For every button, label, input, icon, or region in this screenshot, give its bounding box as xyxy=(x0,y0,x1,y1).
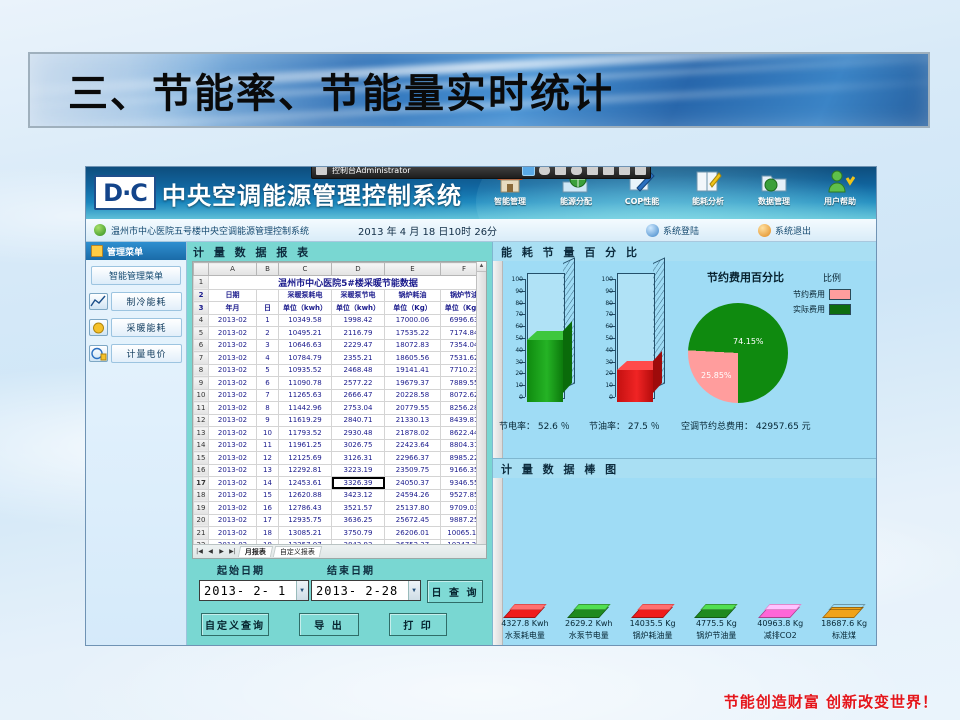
cell-day[interactable]: 12 xyxy=(257,452,279,465)
sidebar-item-heating[interactable]: 采暖能耗 xyxy=(89,318,182,337)
end-date-value: 2013- 2-28 xyxy=(316,584,398,598)
header-cell: 采暖泵耗电 xyxy=(279,289,332,302)
toolbar-label: 智能管理 xyxy=(494,196,526,207)
first-sheet-icon[interactable]: |◀ xyxy=(195,548,204,555)
savings-pie-chart xyxy=(688,303,788,403)
table-row[interactable]: 202013-021712935.753636.2525672.459887.2… xyxy=(194,514,488,527)
gauge-tick-label: 80 xyxy=(605,300,613,307)
start-date-label: 起始日期 xyxy=(217,562,265,577)
report-table: A B C D E F 1 温州市中心医院5#楼采暖节能数据 2 日期 xyxy=(193,262,487,552)
price-icon xyxy=(89,345,108,362)
cell-pump-power[interactable]: 12292.81 xyxy=(279,464,332,477)
cell-ym[interactable]: 2013-02 xyxy=(209,339,257,352)
bar-category: 锅炉节油量 xyxy=(696,630,736,641)
metering-bars-canvas: 4327.8 Kwh 水泵耗电量 2629.2 Kwh 水泵节电量 xyxy=(493,478,876,645)
sheet-tab-custom[interactable]: 自定义报表 xyxy=(273,546,322,557)
legend-item-actual: 实际费用 xyxy=(793,304,851,315)
sheet-tab-label: 月报表 xyxy=(245,547,266,557)
speaker-icon[interactable] xyxy=(635,167,646,175)
slide-slogan: 节能创造财富 创新改变世界！ xyxy=(724,691,938,712)
folder-globe-icon xyxy=(759,168,789,195)
cell-day[interactable]: 14 xyxy=(257,477,279,490)
gauge-tick-label: 70 xyxy=(515,311,523,318)
app-title: 中央空调能源管理控制系统 xyxy=(162,176,462,211)
gauge-tick-label: 40 xyxy=(605,347,613,354)
bar-shape xyxy=(763,604,797,617)
table-row[interactable]: 142013-021111961.253026.7522423.648804.3… xyxy=(194,439,488,452)
bar-category: 水泵节电量 xyxy=(569,630,609,641)
row-number: 19 xyxy=(194,502,209,515)
keyboard-icon[interactable] xyxy=(619,167,630,175)
cell-pump-power[interactable]: 13085.21 xyxy=(279,527,332,540)
gauge-bar-oil xyxy=(617,370,653,402)
cell-boiler-oil[interactable]: 26206.01 xyxy=(385,527,441,540)
toolbar-item-nenghao[interactable]: 能耗分析 xyxy=(676,168,740,207)
dc-logo-text: D·C xyxy=(103,179,147,207)
table-row[interactable]: 82013-02510935.522468.4819141.417710.23 xyxy=(194,364,488,377)
gauge-tick-label: 10 xyxy=(605,382,613,389)
folder-icon[interactable] xyxy=(555,167,566,175)
gauge-power-saving: 100 90 80 70 60 50 40 30 20 10 0 xyxy=(507,273,581,408)
gauge-tick-label: 10 xyxy=(515,382,523,389)
cell-ym[interactable]: 2013-02 xyxy=(209,452,257,465)
gauge-tick-label: 50 xyxy=(605,335,613,342)
bar-item: 4775.5 Kg 锅炉节油量 xyxy=(684,604,748,641)
sheet-tab-monthly[interactable]: 月报表 xyxy=(238,546,273,557)
column-letter-row: A B C D E F xyxy=(194,263,488,276)
row-number: 8 xyxy=(194,364,209,377)
cell-ym[interactable]: 2013-02 xyxy=(209,314,257,327)
table-row[interactable]: 212013-021813085.213750.7926206.0110065.… xyxy=(194,527,488,540)
bar-shape xyxy=(827,604,861,617)
legend-swatch-saved xyxy=(829,289,851,300)
cell-day[interactable]: 13 xyxy=(257,464,279,477)
cell-ym[interactable]: 2013-02 xyxy=(209,402,257,415)
cell-pump-power[interactable]: 11961.25 xyxy=(279,439,332,452)
end-date-input[interactable]: 2013- 2-28 ▼ xyxy=(311,580,421,601)
gauge-tick-label: 0 xyxy=(609,394,613,401)
pie-chart-title: 节约费用百分比 xyxy=(707,269,784,285)
cell-day[interactable]: 10 xyxy=(257,427,279,440)
cell-pump-saved[interactable]: 2666.47 xyxy=(332,389,385,402)
gauge-tick-label: 50 xyxy=(515,335,523,342)
total-savings-annotation: 空调节约总费用： 42957.65 元 xyxy=(681,419,811,432)
bar-item: 4327.8 Kwh 水泵耗电量 xyxy=(493,604,557,641)
cell-ym[interactable]: 2013-02 xyxy=(209,427,257,440)
day-query-button[interactable]: 日 查 询 xyxy=(427,580,483,603)
sidebar-item-label: 制冷能耗 xyxy=(111,292,182,311)
cell-pump-power[interactable]: 12786.43 xyxy=(279,502,332,515)
slide-title-banner: 三、节能率、节能量实时统计 xyxy=(28,52,930,128)
status-bar: 温州市中心医院五号楼中央空调能源管理控制系统 2013 年 4 月 18 日10… xyxy=(86,219,876,242)
cell-pump-saved[interactable]: 3521.57 xyxy=(332,502,385,515)
cell-day[interactable]: 15 xyxy=(257,489,279,502)
cell-ym[interactable]: 2013-02 xyxy=(209,502,257,515)
cell-boiler-oil[interactable]: 23509.75 xyxy=(385,464,441,477)
energy-percent-panel: 能 耗 节 量 百 分 比 100 90 80 70 60 50 40 xyxy=(493,242,876,459)
bar-shape xyxy=(699,604,733,617)
cell-boiler-oil[interactable]: 19679.37 xyxy=(385,377,441,390)
gauge-tick-label: 60 xyxy=(605,323,613,330)
os-titlebar-label: 控制台Administrator xyxy=(332,167,411,176)
cell-pump-power[interactable]: 11793.52 xyxy=(279,427,332,440)
row-number: 11 xyxy=(194,402,209,415)
bar-value: 40963.8 Kg xyxy=(757,619,803,628)
cell-day[interactable]: 1 xyxy=(257,314,279,327)
bar-value: 4775.5 Kg xyxy=(696,619,737,628)
table-row[interactable]: 152013-021212125.693126.3122966.378985.2… xyxy=(194,452,488,465)
gauge-tick-label: 30 xyxy=(605,359,613,366)
table-row[interactable]: 102013-02711265.632666.4720228.588072.62 xyxy=(194,389,488,402)
row-number: 15 xyxy=(194,452,209,465)
bar-item: 18687.6 Kg 标准煤 xyxy=(812,604,876,641)
last-sheet-icon[interactable]: ▶| xyxy=(228,548,237,555)
cell-pump-power[interactable]: 12453.61 xyxy=(279,477,332,490)
sheet-tab-label: 自定义报表 xyxy=(280,547,315,557)
monitor-icon[interactable] xyxy=(523,167,534,175)
cursor-icon[interactable] xyxy=(571,167,582,175)
page-title: 三、节能率、节能量实时统计 xyxy=(68,61,614,119)
header-row-1: 2 日期 采暖泵耗电 采暖泵节电 锅炉耗油 锅炉节油 xyxy=(194,289,488,302)
sheet-vertical-scrollbar[interactable]: ▲ ▼ xyxy=(476,262,486,558)
header-cell: 单位（Kg） xyxy=(385,302,441,315)
system-status-icon xyxy=(94,224,106,236)
gauge-tick-label: 0 xyxy=(519,394,523,401)
row-number: 6 xyxy=(194,339,209,352)
application-window: D·C 中央空调能源管理控制系统 智能管理 能源分配 COP性能 xyxy=(85,166,877,646)
gauge-tick-label: 20 xyxy=(515,370,523,377)
cell-pump-power[interactable]: 10935.52 xyxy=(279,364,332,377)
table-row[interactable]: 182013-021512620.883423.1224594.269527.8… xyxy=(194,489,488,502)
current-datetime: 2013 年 4 月 18 日10时 26分 xyxy=(358,223,497,238)
sidebar-header-label: 管理菜单 xyxy=(107,245,143,258)
cell-pump-saved[interactable]: 3223.19 xyxy=(332,464,385,477)
cell-day[interactable]: 6 xyxy=(257,377,279,390)
system-name-label: 温州市中心医院五号楼中央空调能源管理控制系统 xyxy=(111,224,309,237)
row-number: 3 xyxy=(194,302,209,315)
table-row[interactable]: 162013-021312292.813223.1923509.759166.3… xyxy=(194,464,488,477)
cell-ym[interactable]: 2013-02 xyxy=(209,364,257,377)
legend-item-saved: 节约费用 xyxy=(793,289,851,300)
chevron-down-icon[interactable]: ▼ xyxy=(296,581,308,600)
bar-value: 4327.8 Kwh xyxy=(501,619,548,628)
selected-cell[interactable]: 3326.39 xyxy=(332,477,385,490)
bar-category: 锅炉耗油量 xyxy=(633,630,673,641)
cell-pump-saved[interactable]: 1998.42 xyxy=(332,314,385,327)
cell-ym[interactable]: 2013-02 xyxy=(209,489,257,502)
report-panel: 计 量 数 据 报 表 A B C D E F 1 温州市中 xyxy=(187,242,493,646)
cell-boiler-oil[interactable]: 20779.55 xyxy=(385,402,441,415)
cell-day[interactable]: 11 xyxy=(257,439,279,452)
cell-day[interactable]: 5 xyxy=(257,364,279,377)
gauge-tick-label: 20 xyxy=(605,370,613,377)
row-number: 12 xyxy=(194,414,209,427)
cell-boiler-oil[interactable]: 25137.80 xyxy=(385,502,441,515)
header-cell: 日 xyxy=(257,302,279,315)
toolbar-label: 能源分配 xyxy=(560,196,592,207)
cell-pump-power[interactable]: 11090.78 xyxy=(279,377,332,390)
row-number: 2 xyxy=(194,289,209,302)
gauge-tick-label: 60 xyxy=(515,323,523,330)
cell-day[interactable]: 18 xyxy=(257,527,279,540)
cell-pump-saved[interactable]: 3423.12 xyxy=(332,489,385,502)
query-controls: 起始日期 结束日期 2013- 2- 1 ▼ 2013- 2-28 ▼ 日 查 … xyxy=(187,558,492,646)
legend-label: 实际费用 xyxy=(793,304,825,315)
cell-ym[interactable]: 2013-02 xyxy=(209,352,257,365)
cell-pump-saved[interactable]: 2355.21 xyxy=(332,352,385,365)
column-letter[interactable]: D xyxy=(332,263,385,276)
print-button[interactable]: 打 印 xyxy=(389,613,447,636)
cell-boiler-oil[interactable]: 20228.58 xyxy=(385,389,441,402)
cell-pump-saved[interactable]: 2930.48 xyxy=(332,427,385,440)
metering-bar-list: 4327.8 Kwh 水泵耗电量 2629.2 Kwh 水泵节电量 xyxy=(493,604,876,641)
cell-day[interactable]: 17 xyxy=(257,514,279,527)
dc-logo-icon: D·C xyxy=(94,175,156,210)
row-number: 13 xyxy=(194,427,209,440)
cell-day[interactable]: 9 xyxy=(257,414,279,427)
sidebar-header: 管理菜单 xyxy=(86,242,186,260)
system-login-label: 系统登陆 xyxy=(663,224,699,237)
table-row[interactable]: 112013-02811442.962753.0420779.558256.28 xyxy=(194,402,488,415)
cell-pump-power[interactable]: 10495.21 xyxy=(279,327,332,340)
hand-icon[interactable] xyxy=(603,167,614,175)
login-icon xyxy=(646,224,659,237)
cell-boiler-oil[interactable]: 22423.64 xyxy=(385,439,441,452)
cell-day[interactable]: 7 xyxy=(257,389,279,402)
power-saving-readout: 节电率： 52.6 ％ xyxy=(499,419,570,432)
bar-shape xyxy=(572,604,606,617)
end-date-label: 结束日期 xyxy=(327,562,375,577)
bar-category: 水泵耗电量 xyxy=(505,630,545,641)
column-letter[interactable]: E xyxy=(385,263,441,276)
gauge-axis xyxy=(615,279,616,397)
cell-pump-saved[interactable]: 3636.25 xyxy=(332,514,385,527)
cell-ym[interactable]: 2013-02 xyxy=(209,439,257,452)
bar-value: 18687.6 Kg xyxy=(821,619,867,628)
menu-icon xyxy=(91,245,103,257)
row-number: 1 xyxy=(194,275,209,289)
legend-swatch-actual xyxy=(829,304,851,315)
table-row[interactable]: 132013-021011793.522930.4821878.028622.4… xyxy=(194,427,488,440)
cell-boiler-oil[interactable]: 21330.13 xyxy=(385,414,441,427)
user-icon xyxy=(825,168,855,195)
gauge-bar-power xyxy=(527,340,563,402)
sheet-tab-bar: |◀ ◀ ▶ ▶| 月报表 自定义报表 xyxy=(193,544,487,558)
metering-bars-title: 计 量 数 据 棒 图 xyxy=(493,459,876,478)
cell-pump-saved[interactable]: 3126.31 xyxy=(332,452,385,465)
cell-pump-saved[interactable]: 3026.75 xyxy=(332,439,385,452)
cell-day[interactable]: 16 xyxy=(257,502,279,515)
move-icon[interactable] xyxy=(587,167,598,175)
cell-pump-saved[interactable]: 2753.04 xyxy=(332,402,385,415)
table-row[interactable]: 122013-02911619.292840.7121330.138439.81 xyxy=(194,414,488,427)
cell-pump-saved[interactable]: 2229.47 xyxy=(332,339,385,352)
cell-boiler-oil[interactable]: 22966.37 xyxy=(385,452,441,465)
row-number: 17 xyxy=(194,477,209,490)
cell-ym[interactable]: 2013-02 xyxy=(209,414,257,427)
bar-shape xyxy=(508,604,542,617)
logout-icon xyxy=(758,224,771,237)
cell-day[interactable]: 2 xyxy=(257,327,279,340)
monitor-icon xyxy=(316,167,327,175)
row-number: 16 xyxy=(194,464,209,477)
header-cell: 日期 xyxy=(209,289,257,302)
start-date-input[interactable]: 2013- 2- 1 ▼ xyxy=(199,580,309,601)
cell-pump-saved[interactable]: 2468.48 xyxy=(332,364,385,377)
table-row[interactable]: 42013-02110349.581998.4217000.066996.63 xyxy=(194,314,488,327)
table-row[interactable]: 52013-02210495.212116.7917535.227174.84 xyxy=(194,327,488,340)
sheet-title-row: 1 温州市中心医院5#楼采暖节能数据 xyxy=(194,275,488,289)
gauge-tick-label: 80 xyxy=(515,300,523,307)
system-logout-button[interactable]: 系统退出 xyxy=(758,224,811,237)
cell-boiler-oil[interactable]: 18605.56 xyxy=(385,352,441,365)
system-logout-label: 系统退出 xyxy=(775,224,811,237)
cell-boiler-oil[interactable]: 24050.37 xyxy=(385,477,441,490)
cell-pump-power[interactable]: 10349.58 xyxy=(279,314,332,327)
cell-ym[interactable]: 2013-02 xyxy=(209,464,257,477)
cell-pump-saved[interactable]: 2116.79 xyxy=(332,327,385,340)
cell-boiler-oil[interactable]: 18072.83 xyxy=(385,339,441,352)
cell-day[interactable]: 8 xyxy=(257,402,279,415)
toolbar-item-shuju[interactable]: 数据管理 xyxy=(742,168,806,207)
cell-boiler-oil[interactable]: 17535.22 xyxy=(385,327,441,340)
bar-item: 14035.5 Kg 锅炉耗油量 xyxy=(621,604,685,641)
header-row-2: 3 年月 日 单位（kwh） 单位（kwh） 单位（Kg） 单位（Kg） xyxy=(194,302,488,315)
header-cell xyxy=(257,289,279,302)
header-cell: 采暖泵节电 xyxy=(332,289,385,302)
column-letter[interactable]: C xyxy=(279,263,332,276)
sidebar: 管理菜单 智能管理菜单 制冷能耗 采暖能耗 计量电价 xyxy=(86,242,187,646)
table-row-selected[interactable]: 172013-021412453.613326.3924050.379346.5… xyxy=(194,477,488,490)
gauge-axis xyxy=(525,279,526,397)
scroll-up-icon[interactable]: ▲ xyxy=(477,262,486,272)
header-cell: 单位（kwh） xyxy=(279,302,332,315)
cell-ym[interactable]: 2013-02 xyxy=(209,527,257,540)
legend-label: 节约费用 xyxy=(793,289,825,300)
cell-ym[interactable]: 2013-02 xyxy=(209,377,257,390)
cell-boiler-oil[interactable]: 24594.26 xyxy=(385,489,441,502)
cell-ym[interactable]: 2013-02 xyxy=(209,514,257,527)
custom-query-button[interactable]: 自定义查询 xyxy=(201,613,269,636)
sidebar-item-price[interactable]: 计量电价 xyxy=(89,344,182,363)
row-number: 20 xyxy=(194,514,209,527)
header-cell: 锅炉耗油 xyxy=(385,289,441,302)
system-login-button[interactable]: 系统登陆 xyxy=(646,224,699,237)
cell-pump-power[interactable]: 12125.69 xyxy=(279,452,332,465)
cell-pump-saved[interactable]: 2840.71 xyxy=(332,414,385,427)
cell-boiler-oil[interactable]: 19141.41 xyxy=(385,364,441,377)
cell-pump-power[interactable]: 10646.63 xyxy=(279,339,332,352)
toolbar-label: 数据管理 xyxy=(758,196,790,207)
row-number: 14 xyxy=(194,439,209,452)
cell-ym[interactable]: 2013-02 xyxy=(209,477,257,490)
toolbar-label: 能耗分析 xyxy=(692,196,724,207)
metering-bars-panel: 计 量 数 据 棒 图 4327.8 Kwh 水泵耗电量 xyxy=(493,459,876,646)
row-number: 7 xyxy=(194,352,209,365)
gauge-tick-label: 40 xyxy=(515,347,523,354)
mouse-icon[interactable] xyxy=(539,167,550,175)
table-row[interactable]: 72013-02410784.792355.2118605.567531.62 xyxy=(194,352,488,365)
corner-cell xyxy=(194,263,209,276)
bar-category: 标准煤 xyxy=(832,630,856,641)
cooling-icon xyxy=(89,293,108,310)
bar-value: 2629.2 Kwh xyxy=(565,619,612,628)
row-number: 21 xyxy=(194,527,209,540)
cell-boiler-oil[interactable]: 17000.06 xyxy=(385,314,441,327)
start-date-value: 2013- 2- 1 xyxy=(204,584,286,598)
gauge-tick-label: 90 xyxy=(515,288,523,295)
toolbar-item-yonghu[interactable]: 用户帮助 xyxy=(808,168,872,207)
cell-day[interactable]: 3 xyxy=(257,339,279,352)
header-cell: 年月 xyxy=(209,302,257,315)
sidebar-subtitle[interactable]: 智能管理菜单 xyxy=(91,266,181,285)
bar-value: 14035.5 Kg xyxy=(630,619,676,628)
gauge-tick-label: 30 xyxy=(515,359,523,366)
app-body: 管理菜单 智能管理菜单 制冷能耗 采暖能耗 计量电价 xyxy=(86,242,876,646)
sidebar-item-label: 采暖能耗 xyxy=(111,318,182,337)
row-number: 10 xyxy=(194,389,209,402)
sidebar-item-label: 计量电价 xyxy=(111,344,182,363)
cell-pump-saved[interactable]: 3750.79 xyxy=(332,527,385,540)
cell-pump-power[interactable]: 11265.63 xyxy=(279,389,332,402)
cell-pump-power[interactable]: 12620.88 xyxy=(279,489,332,502)
cell-boiler-oil[interactable]: 21878.02 xyxy=(385,427,441,440)
column-letter[interactable]: A xyxy=(209,263,257,276)
gauge-tick-label: 100 xyxy=(602,276,613,283)
row-number: 9 xyxy=(194,377,209,390)
cell-pump-power[interactable]: 10784.79 xyxy=(279,352,332,365)
chevron-down-icon[interactable]: ▼ xyxy=(408,581,420,600)
table-row[interactable]: 192013-021612786.433521.5725137.809709.0… xyxy=(194,502,488,515)
cell-ym[interactable]: 2013-02 xyxy=(209,389,257,402)
bar-item: 40963.8 Kg 减排CO2 xyxy=(748,604,812,641)
toolbar-label: COP性能 xyxy=(625,196,660,207)
cell-pump-saved[interactable]: 2577.22 xyxy=(332,377,385,390)
prev-sheet-icon[interactable]: ◀ xyxy=(206,548,215,555)
gauge-oil-saving: 100 90 80 70 60 50 40 30 20 10 0 xyxy=(597,273,671,408)
pie-label-actual: 74.15% xyxy=(733,337,764,346)
gauge-tick-label: 70 xyxy=(605,311,613,318)
os-console-titlebar[interactable]: 控制台Administrator xyxy=(311,167,651,179)
energy-percent-title: 能 耗 节 量 百 分 比 xyxy=(493,242,876,261)
table-row[interactable]: 62013-02310646.632229.4718072.837354.04 xyxy=(194,339,488,352)
toolbar-label: 用户帮助 xyxy=(824,196,856,207)
cell-boiler-oil[interactable]: 25672.45 xyxy=(385,514,441,527)
pie-label-saved: 25.85% xyxy=(701,371,732,380)
bar-shape xyxy=(636,604,670,617)
table-row[interactable]: 92013-02611090.782577.2219679.377889.55 xyxy=(194,377,488,390)
gauge-tick-label: 90 xyxy=(605,288,613,295)
cell-pump-power[interactable]: 11619.29 xyxy=(279,414,332,427)
bar-category: 减排CO2 xyxy=(764,630,797,641)
next-sheet-icon[interactable]: ▶ xyxy=(217,548,226,555)
column-letter[interactable]: B xyxy=(257,263,279,276)
row-number: 5 xyxy=(194,327,209,340)
row-number: 18 xyxy=(194,489,209,502)
sidebar-item-cooling[interactable]: 制冷能耗 xyxy=(89,292,182,311)
spreadsheet[interactable]: A B C D E F 1 温州市中心医院5#楼采暖节能数据 2 日期 xyxy=(192,261,487,559)
cell-day[interactable]: 4 xyxy=(257,352,279,365)
book-icon xyxy=(693,168,723,195)
cell-pump-power[interactable]: 11442.96 xyxy=(279,402,332,415)
cell-ym[interactable]: 2013-02 xyxy=(209,327,257,340)
row-number: 4 xyxy=(194,314,209,327)
export-button[interactable]: 导 出 xyxy=(299,613,359,636)
oil-saving-readout: 节油率： 27.5 ％ xyxy=(589,419,660,432)
cell-pump-power[interactable]: 12935.75 xyxy=(279,514,332,527)
energy-percent-canvas: 100 90 80 70 60 50 40 30 20 10 0 xyxy=(493,261,876,458)
charts-column: 能 耗 节 量 百 分 比 100 90 80 70 60 50 40 xyxy=(493,242,876,646)
